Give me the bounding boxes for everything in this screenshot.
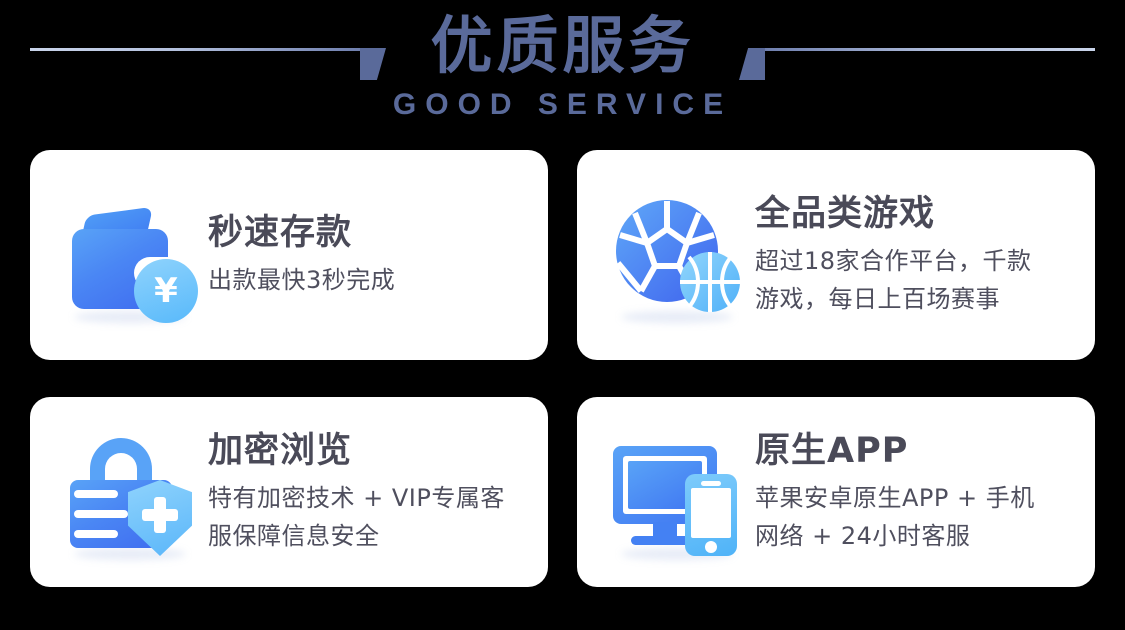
ball-icon xyxy=(607,185,747,325)
page-title: 优质服务 xyxy=(0,6,1125,86)
card-description-line: 游戏，每日上百场赛事 xyxy=(755,280,1073,318)
feature-card-grid: ¥ 秒速存款 出款最快3秒完成 xyxy=(30,150,1095,587)
card-description-line: 服保障信息安全 xyxy=(208,517,526,555)
feature-card-encryption[interactable]: 加密浏览 特有加密技术 + VIP专属客 服保障信息安全 xyxy=(30,397,548,587)
phone-screen xyxy=(691,488,731,538)
card-description-line: 超过18家合作平台，千款 xyxy=(755,242,1073,280)
lock-line-icon xyxy=(74,510,128,518)
feature-card-games[interactable]: 全品类游戏 超过18家合作平台，千款 游戏，每日上百场赛事 xyxy=(577,150,1095,360)
icon-shadow xyxy=(74,548,186,560)
page-header: 优质服务 GOOD SERVICE xyxy=(0,0,1125,140)
page-subtitle: GOOD SERVICE xyxy=(0,88,1125,122)
lock-shield-icon xyxy=(60,422,200,562)
card-text: 秒速存款 出款最快3秒完成 xyxy=(208,211,526,299)
card-title: 原生APP xyxy=(755,429,1073,473)
card-description-line: 网络 + 24小时客服 xyxy=(755,517,1073,555)
card-title: 加密浏览 xyxy=(208,429,526,473)
card-description-line: 出款最快3秒完成 xyxy=(208,261,526,299)
card-description-line: 苹果安卓原生APP + 手机 xyxy=(755,479,1073,517)
phone-home-button-icon xyxy=(705,541,717,553)
monitor-phone-icon xyxy=(607,422,747,562)
card-title: 秒速存款 xyxy=(208,211,526,255)
lock-line-icon xyxy=(74,490,118,498)
basketball-icon xyxy=(679,251,741,313)
card-description-line: 特有加密技术 + VIP专属客 xyxy=(208,479,526,517)
phone-speaker-icon xyxy=(701,481,721,486)
card-description: 超过18家合作平台，千款 游戏，每日上百场赛事 xyxy=(755,242,1073,318)
feature-card-native-app[interactable]: 原生APP 苹果安卓原生APP + 手机 网络 + 24小时客服 xyxy=(577,397,1095,587)
lock-line-icon xyxy=(74,530,118,538)
card-text: 全品类游戏 超过18家合作平台，千款 游戏，每日上百场赛事 xyxy=(755,192,1073,318)
card-description: 特有加密技术 + VIP专属客 服保障信息安全 xyxy=(208,479,526,555)
plus-icon xyxy=(154,497,166,533)
card-description: 苹果安卓原生APP + 手机 网络 + 24小时客服 xyxy=(755,479,1073,555)
yuan-coin-icon: ¥ xyxy=(134,259,198,323)
card-text: 加密浏览 特有加密技术 + VIP专属客 服保障信息安全 xyxy=(208,429,526,555)
card-title: 全品类游戏 xyxy=(755,192,1073,236)
card-description: 出款最快3秒完成 xyxy=(208,261,526,299)
card-text: 原生APP 苹果安卓原生APP + 手机 网络 + 24小时客服 xyxy=(755,429,1073,555)
header-title-block: 优质服务 GOOD SERVICE xyxy=(0,6,1125,122)
wallet-icon: ¥ xyxy=(60,185,200,325)
feature-card-deposit[interactable]: ¥ 秒速存款 出款最快3秒完成 xyxy=(30,150,548,360)
